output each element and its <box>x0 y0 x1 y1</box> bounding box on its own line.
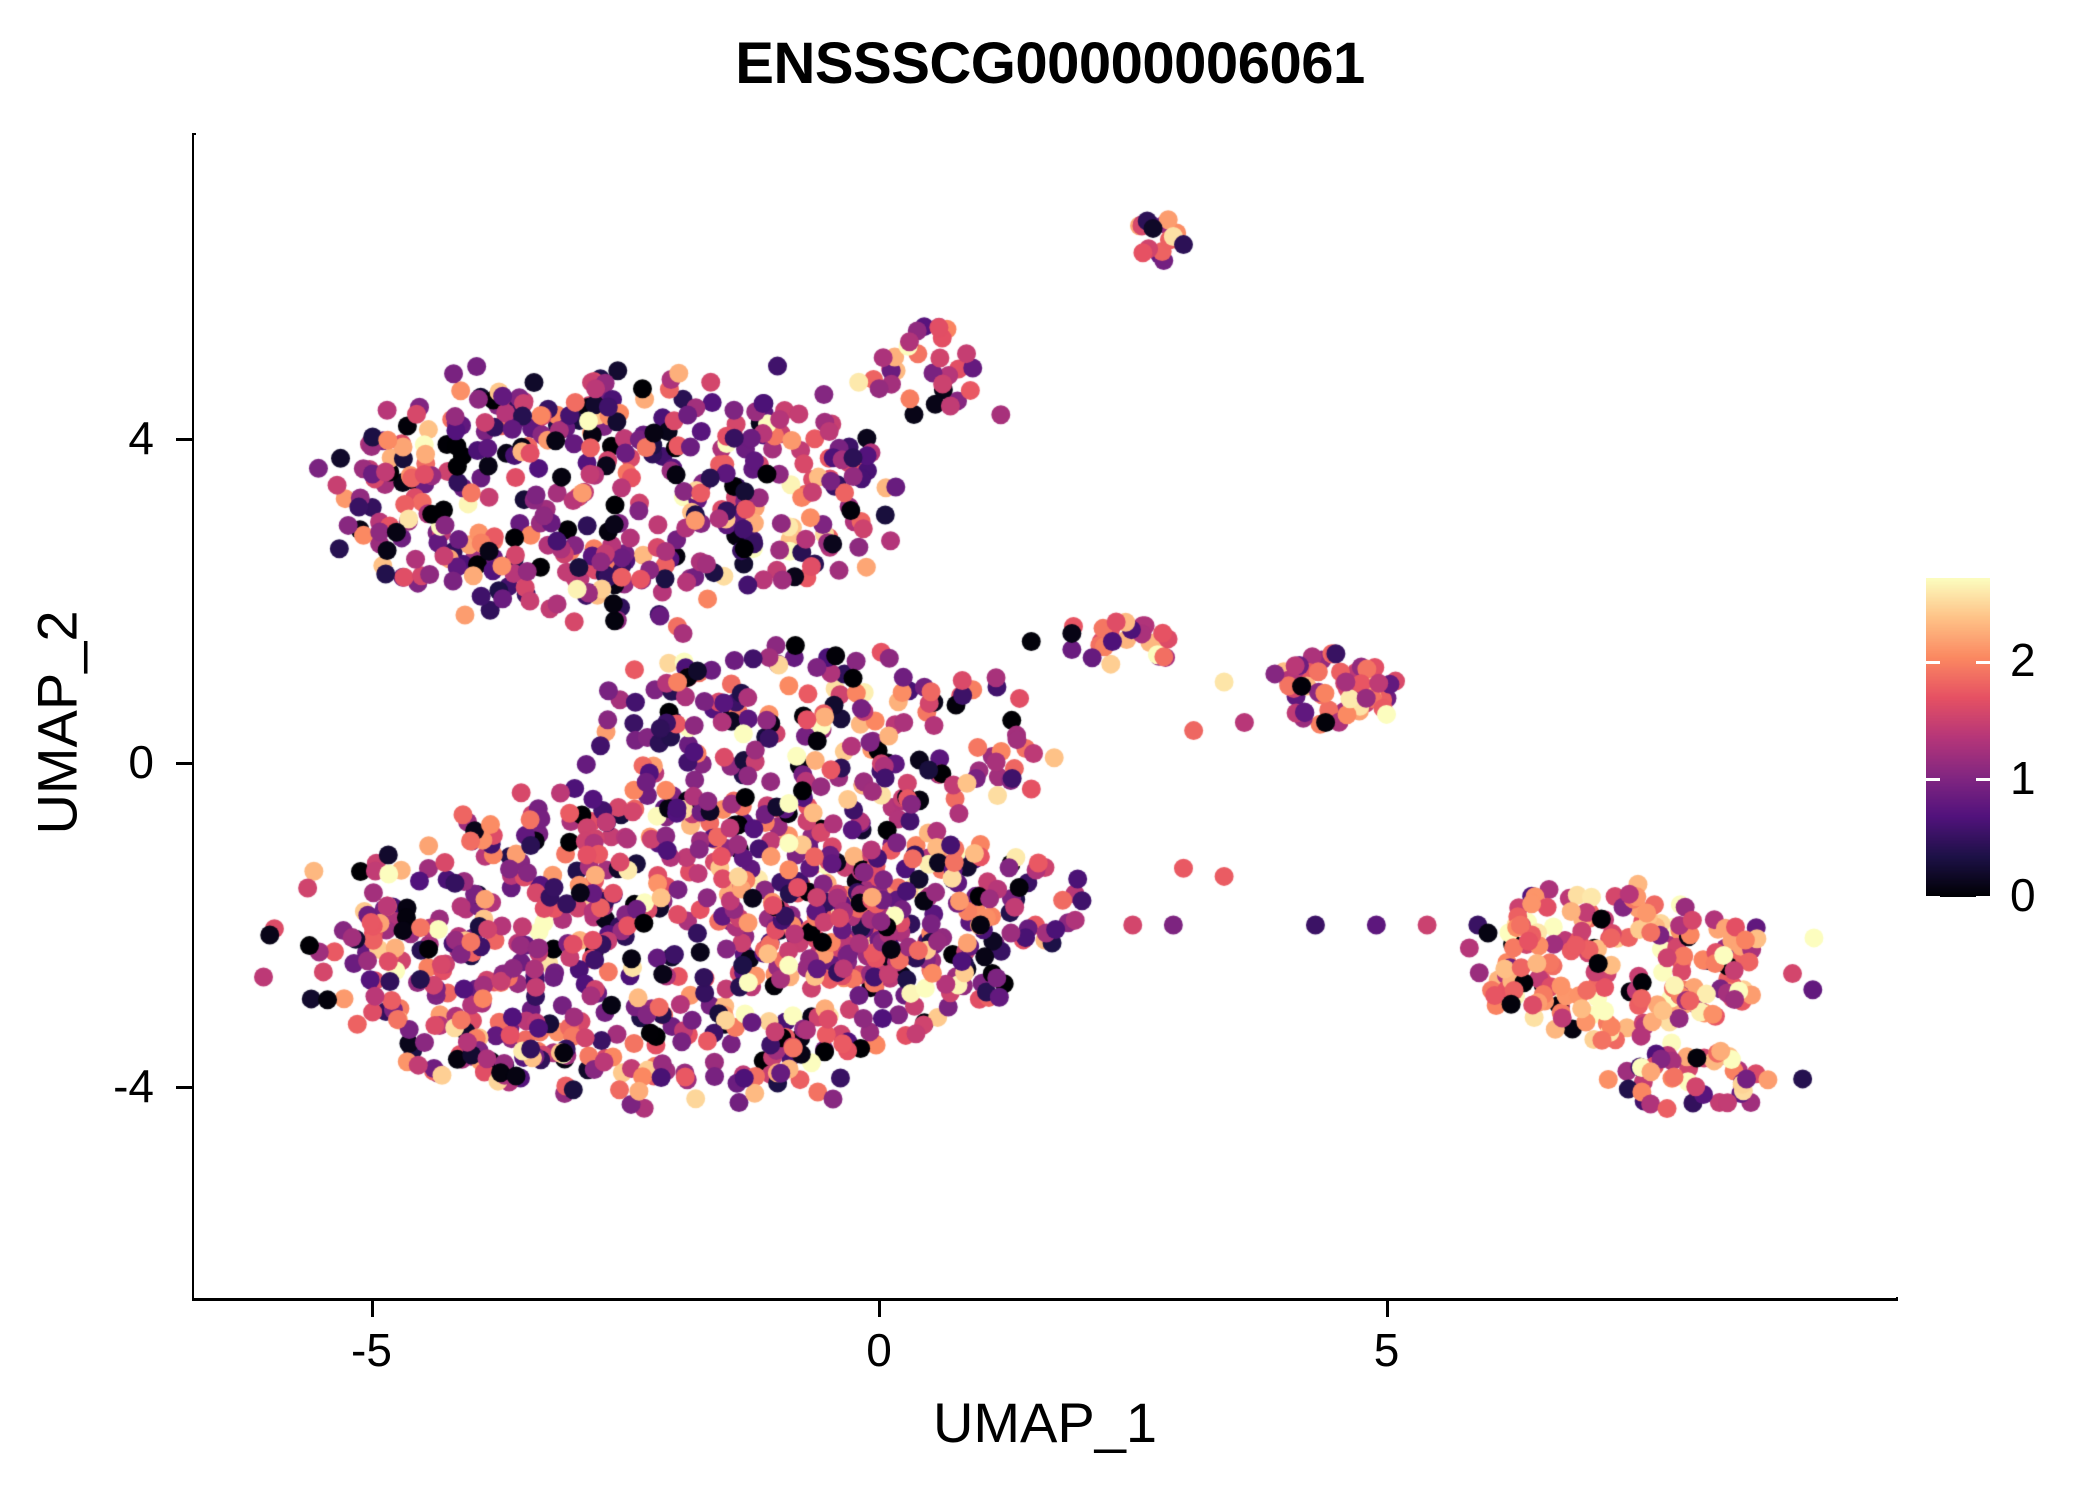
y-axis-title: UMAP_2 <box>25 373 90 1073</box>
y-tick-mark <box>176 762 192 765</box>
legend-tick-label: 2 <box>2010 637 2036 683</box>
x-tick-mark <box>1386 1301 1389 1317</box>
legend-colorbar <box>1926 578 1990 897</box>
scatter-points-layer <box>194 135 1896 1298</box>
y-tick-mark <box>176 1086 192 1089</box>
y-tick-mark <box>176 438 192 441</box>
legend-tick-label: 1 <box>2010 755 2036 801</box>
legend-tick-mark <box>1976 661 1990 664</box>
umap-feature-plot: ENSSSCG00000006061 -505 -404 UMAP_1 UMAP… <box>0 0 2100 1500</box>
x-tick-mark <box>371 1301 374 1317</box>
x-tick-label: 0 <box>809 1323 949 1377</box>
legend-tick-label: 0 <box>2010 872 2036 918</box>
legend-tick-mark <box>1976 896 1990 899</box>
legend-tick-mark <box>1976 778 1990 781</box>
legend-tick-mark <box>1926 661 1940 664</box>
x-tick-mark <box>878 1301 881 1317</box>
x-tick-label: -5 <box>302 1323 442 1377</box>
legend-tick-mark <box>1926 778 1940 781</box>
legend-tick-mark <box>1926 896 1940 899</box>
x-axis-title: UMAP_1 <box>194 1390 1896 1455</box>
x-tick-label: 5 <box>1317 1323 1457 1377</box>
page-title: ENSSSCG00000006061 <box>0 30 2100 97</box>
